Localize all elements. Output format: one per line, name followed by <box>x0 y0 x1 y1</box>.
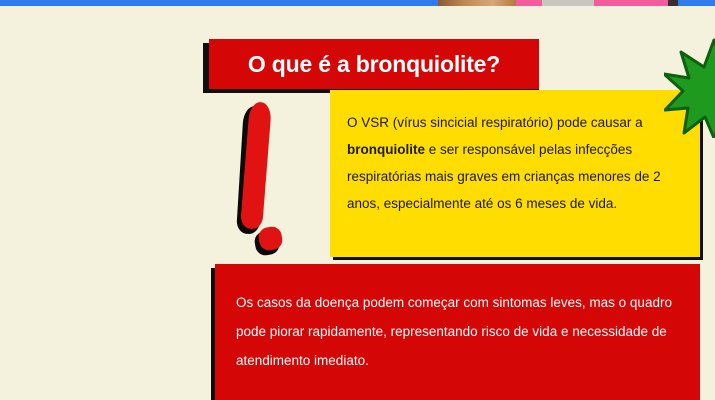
exclamation-mark-icon <box>232 100 302 255</box>
strip-segment-grey <box>542 0 594 6</box>
page-title: O que é a bronquiolite? <box>248 51 500 78</box>
top-photo-strip <box>0 0 715 6</box>
strip-segment-pink-left <box>516 0 542 6</box>
strip-segment-pink-right <box>594 0 668 6</box>
strip-segment-dark <box>668 0 678 6</box>
yellow-info-card: O VSR (vírus sincicial respiratório) pod… <box>330 90 700 257</box>
yellow-card-text: O VSR (vírus sincicial respiratório) pod… <box>347 109 687 217</box>
yellow-text-part-1: O VSR (vírus sincicial respiratório) pod… <box>347 115 643 130</box>
red-info-card: Os casos da doença podem começar com sin… <box>215 264 700 400</box>
strip-segment-skin <box>438 0 516 6</box>
yellow-text-bold-word: bronquiolite <box>347 142 425 157</box>
red-card-text: Os casos da doença podem começar com sin… <box>236 288 686 375</box>
infographic-stage: O que é a bronquiolite? O VSR (vírus sin… <box>0 0 715 400</box>
title-banner: O que é a bronquiolite? <box>209 39 539 89</box>
